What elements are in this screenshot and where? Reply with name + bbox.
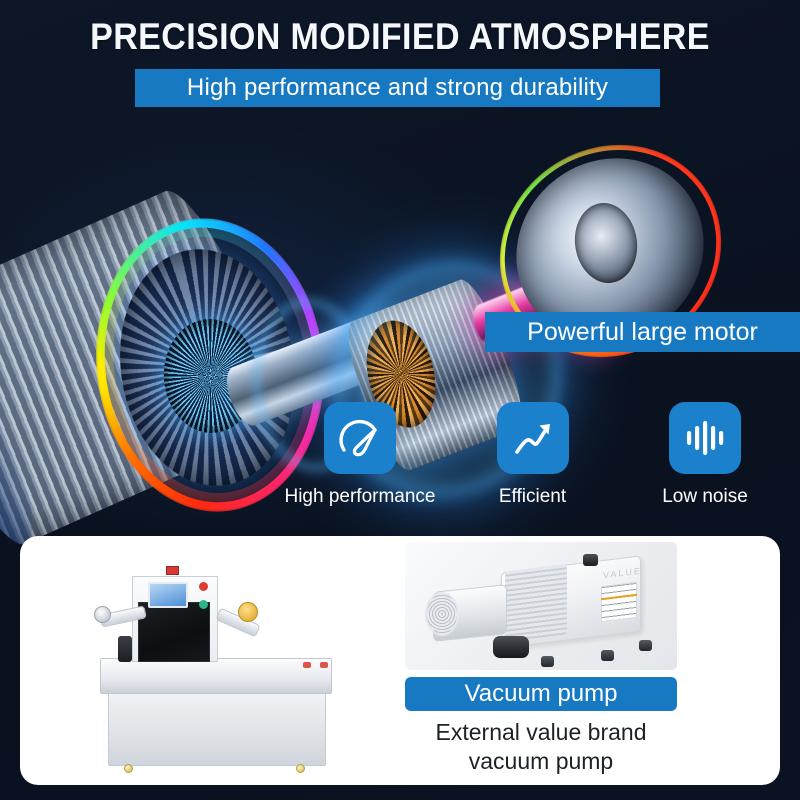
feature-label: Low noise [662,486,748,508]
subtitle-text: High performance and strong durability [187,74,608,102]
subtitle-banner: High performance and strong durability [135,69,660,107]
pump-foot-mid [601,650,614,661]
poster-canvas: PRECISION MODIFIED ATMOSPHERE High perfo… [0,0,800,800]
gauge-icon [324,402,396,474]
product-card: VALUE Vacuum pump External value brand v… [20,536,780,785]
page-title: PRECISION MODIFIED ATMOSPHERE [32,16,768,58]
machine-photo-panel [20,536,395,785]
pump-foot-right [639,640,652,651]
feature-item-high-performance: High performance [280,402,440,527]
pump-caption-line2: vacuum pump [395,747,687,776]
feature-label: High performance [284,486,435,508]
vacuum-pump-image: VALUE [405,542,677,670]
pump-panel: VALUE Vacuum pump External value brand v… [395,536,780,785]
feature-item-low-noise: Low noise [625,402,785,527]
sound-wave-icon [669,402,741,474]
machine-caster-left [124,764,133,773]
pump-cooling-fins [505,564,567,642]
pump-spec-label [601,582,637,622]
machine-film-roller-right [238,602,258,622]
pump-caption-line1: External value brand [395,718,687,747]
pump-fan-cover [425,592,459,636]
machine-conveyor-table [100,658,332,694]
motor-banner-label: Powerful large motor [527,318,758,347]
machine-chamber-window [138,602,210,662]
feature-list: High performance Efficient [280,402,785,527]
machine-film-roller-left [94,606,111,623]
machine-caster-right [296,764,305,773]
pump-top-knob [583,554,598,566]
machine-base [108,686,326,766]
pump-foot-left [541,656,554,667]
machine-motor-block [118,636,132,662]
pump-caption: External value brand vacuum pump [395,718,687,776]
trending-up-arrow-icon [497,402,569,474]
machine-knob-red [303,662,311,668]
machine-start-button [199,600,208,609]
machine-knob-red-2 [320,662,328,668]
pump-tag-banner: Vacuum pump [405,677,677,711]
feature-item-efficient: Efficient [453,402,613,527]
machine-stop-button [199,582,208,591]
machine-signal-beacon [166,566,179,575]
tray-sealing-machine-image [98,558,346,768]
pump-tag-label: Vacuum pump [465,680,618,708]
feature-label: Efficient [499,486,566,508]
pump-oil-cap [493,636,529,658]
machine-hmi-screen [148,582,188,608]
motor-banner: Powerful large motor [485,312,800,352]
